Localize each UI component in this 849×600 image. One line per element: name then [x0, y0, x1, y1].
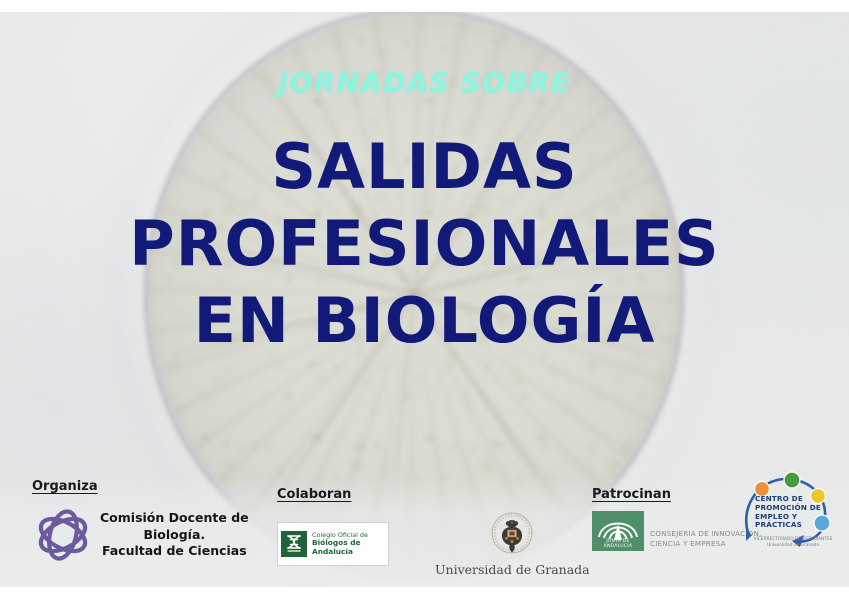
cpep-footer: VICERRECTORADO DE ESTUDIANTES Universida… [750, 537, 836, 549]
organiza-line-3: Facultad de Ciencias [100, 543, 249, 560]
universidad-granada-name: Universidad de Granada [435, 562, 590, 577]
cpep-line-4: PRÁCTICAS [755, 521, 821, 530]
universidad-granada-logo: Universidad de Granada [435, 511, 590, 577]
cpep-logo: CENTRO DE PROMOCIÓN DE EMPLEO Y PRÁCTICA… [734, 471, 842, 557]
patrocinan-content: JUNTA DE ANDALUCIA CONSEJERIA DE INNOVAC… [592, 511, 762, 551]
organiza-text: Comisión Docente de Biología. Facultad d… [100, 510, 249, 561]
colegio-text: Colegio Oficial de Biólogos de Andalucía [312, 532, 385, 556]
section-label-organiza: Organiza [32, 479, 249, 494]
junta-de-andalucia-logo: JUNTA DE ANDALUCIA [592, 511, 644, 551]
organiza-line-2: Biología. [100, 527, 249, 544]
atom-orbital-icon [32, 506, 94, 564]
junta-logo-label: JUNTA DE ANDALUCIA [592, 539, 644, 549]
ugr-double-eagle-crest-icon [486, 511, 538, 561]
dna-helix-icon [281, 531, 307, 557]
colegio-biologos-logo: Colegio Oficial de Biólogos de Andalucía [277, 522, 389, 566]
sponsor-band: Organiza Comisión Docente de Biología. F… [0, 479, 849, 587]
colegio-line-2: Biólogos de Andalucía [312, 539, 385, 556]
section-colaboran: Colaboran Cole [277, 487, 590, 577]
poster: JORNADAS SOBRE SALIDAS PROFESIONALES EN … [0, 0, 849, 600]
section-patrocinan: Patrocinan JUNTA DE ANDALUCIA CONSEJERI [592, 487, 762, 551]
section-organiza: Organiza Comisión Docente de Biología. F… [32, 479, 249, 564]
dna-helix-glyph [284, 534, 304, 555]
colaboran-content: Colegio Oficial de Biólogos de Andalucía [277, 511, 590, 577]
cpep-foot-line-1: VICERRECTORADO DE ESTUDIANTES [750, 537, 836, 543]
organiza-content: Comisión Docente de Biología. Facultad d… [32, 506, 249, 564]
section-label-colaboran: Colaboran [277, 487, 590, 502]
organiza-line-1: Comisión Docente de [100, 510, 249, 527]
cpep-wordmark: CENTRO DE PROMOCIÓN DE EMPLEO Y PRÁCTICA… [755, 495, 821, 530]
cpep-foot-line-2: Universidad de Granada [750, 543, 836, 549]
